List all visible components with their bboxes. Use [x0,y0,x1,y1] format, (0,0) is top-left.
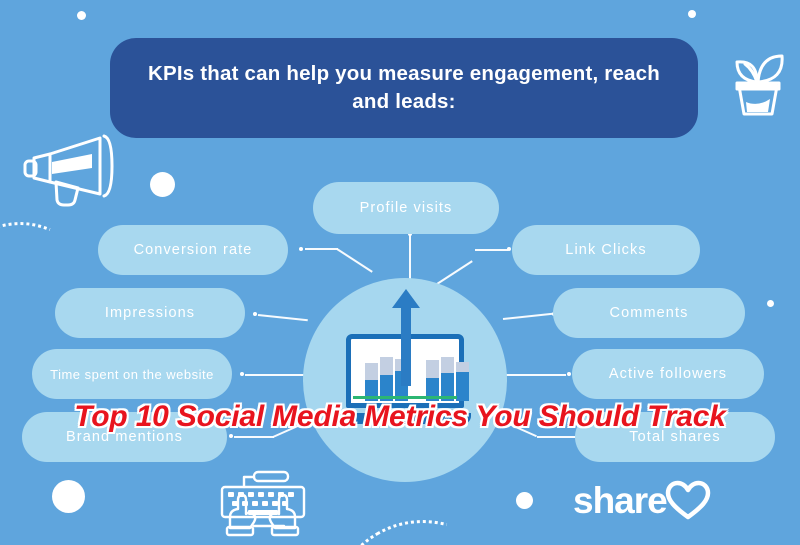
metric-pill-impressions[interactable]: Impressions [55,288,245,338]
header-banner: KPIs that can help you measure engagemen… [110,38,698,138]
connector-line [409,235,411,279]
connector-dot [253,312,257,316]
plant-icon [727,40,787,123]
metric-label: Time spent on the website [50,367,214,382]
connector-line [258,314,308,321]
connector-line [537,436,577,438]
connector-line [475,249,508,251]
logo-text: share [573,482,667,519]
infographic-canvas: KPIs that can help you measure engagemen… [0,0,800,545]
connector-dot [567,372,571,376]
metric-label: Link Clicks [565,242,646,258]
header-title: KPIs that can help you measure engagemen… [132,60,676,115]
decorative-dot [767,300,774,307]
share-logo: share [573,478,711,522]
growth-arrow-icon [401,306,411,386]
connector-line [336,248,372,273]
connector-dot [240,372,244,376]
metric-pill-link-clicks[interactable]: Link Clicks [512,225,700,275]
overlay-title: Top 10 Social Media Metrics You Should T… [40,398,760,436]
metric-label: Conversion rate [134,242,253,258]
connector-dot [299,247,303,251]
decorative-dot [150,172,175,197]
connector-line [234,436,274,438]
metric-pill-time-spent-on-the-website[interactable]: Time spent on the website [32,349,232,399]
metric-pill-conversion-rate[interactable]: Conversion rate [98,225,288,275]
connector-line [436,260,472,285]
connector-line [504,374,566,376]
connector-dot [507,247,511,251]
decorative-dot [516,492,533,509]
bar [426,360,439,401]
bar [380,357,393,401]
decorative-dot [77,11,86,20]
heart-icon [665,480,711,522]
metric-pill-profile-visits[interactable]: Profile visits [313,182,499,234]
bar [456,362,469,401]
decorative-dotted-arc [296,486,550,545]
bar-chart [365,351,469,401]
megaphone-icon [20,132,120,215]
metric-pill-comments[interactable]: Comments [553,288,745,338]
bar [441,357,454,401]
metric-label: Profile visits [360,200,453,216]
connector-line [305,248,338,250]
connector-line [503,313,553,320]
metric-label: Active followers [609,366,727,382]
metric-label: Impressions [105,305,195,321]
metric-pill-active-followers[interactable]: Active followers [572,349,764,399]
connector-line [245,374,307,376]
keyboard-hands-icon [208,470,318,543]
metric-label: Comments [610,305,689,321]
decorative-dot [52,480,85,513]
decorative-dot [688,10,696,18]
